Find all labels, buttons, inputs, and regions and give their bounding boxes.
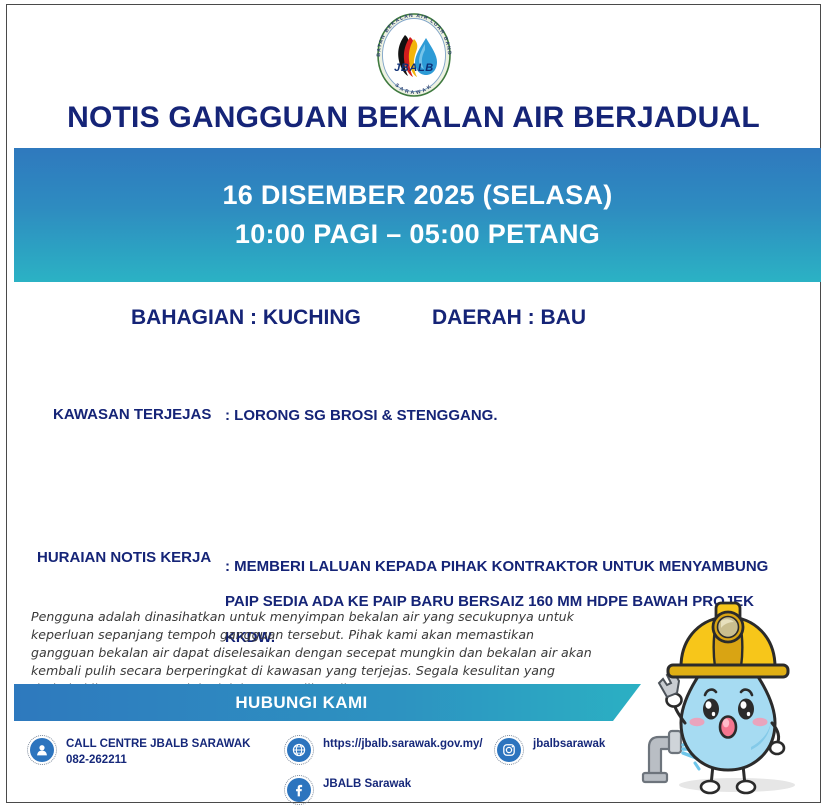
facebook-icon	[284, 775, 314, 805]
contact-website[interactable]: https://jbalb.sarawak.gov.my/	[284, 735, 483, 765]
daerah-label: DAERAH : BAU	[432, 306, 586, 330]
globe-icon	[284, 735, 314, 765]
poster-header: JABATAN BEKALAN AIR LUAR BANDAR SARAWAK …	[7, 5, 820, 143]
website-url: https://jbalb.sarawak.gov.my/	[323, 735, 483, 753]
kawasan-terjejas-label: KAWASAN TERJEJAS	[53, 406, 211, 423]
instagram-icon	[494, 735, 524, 765]
water-droplet-mascot-icon	[627, 597, 827, 805]
notice-poster: JABATAN BEKALAN AIR LUAR BANDAR SARAWAK …	[0, 0, 827, 807]
contact-facebook[interactable]: JBALB Sarawak	[284, 775, 411, 805]
notice-details: BAHAGIAN : KUCHING DAERAH : BAU KAWASAN …	[14, 282, 821, 372]
contact-instagram[interactable]: jbalbsarawak	[494, 735, 605, 765]
page-title: NOTIS GANGGUAN BEKALAN AIR BERJADUAL	[7, 101, 820, 135]
notice-date: 16 DISEMBER 2025 (SELASA)	[222, 176, 612, 215]
kawasan-terjejas-value: : LORONG SG BROSI & STENGGANG.	[225, 407, 498, 424]
affected-area-row: KAWASAN TERJEJAS : LORONG SG BROSI & STE…	[14, 336, 821, 372]
bahagian-label: BAHAGIAN : KUCHING	[131, 306, 361, 330]
user-icon	[27, 735, 57, 765]
call-centre-name: CALL CENTRE JBALB SARAWAK	[66, 738, 250, 750]
svg-text:JBALB: JBALB	[394, 62, 434, 74]
huraian-notis-kerja-label: HURAIAN NOTIS KERJA	[37, 549, 211, 566]
notice-time: 10:00 PAGI – 05:00 PETANG	[235, 215, 600, 254]
poster-frame: JABATAN BEKALAN AIR LUAR BANDAR SARAWAK …	[6, 4, 821, 803]
division-row: BAHAGIAN : KUCHING DAERAH : BAU	[14, 282, 821, 336]
call-centre-text: CALL CENTRE JBALB SARAWAK 082-262211	[66, 735, 250, 768]
huraian-line-1: : MEMBERI LALUAN KEPADA PIHAK KONTRAKTOR…	[225, 549, 785, 584]
contact-call-centre[interactable]: CALL CENTRE JBALB SARAWAK 082-262211	[27, 735, 250, 768]
facebook-page-name: JBALB Sarawak	[323, 775, 411, 793]
date-time-banner: 16 DISEMBER 2025 (SELASA) 10:00 PAGI – 0…	[14, 148, 821, 282]
call-centre-number: 082-262211	[66, 753, 250, 769]
jbalb-logo-icon: JABATAN BEKALAN AIR LUAR BANDAR SARAWAK …	[368, 13, 460, 97]
hubungi-kami-label: HUBUNGI KAMI	[14, 684, 589, 721]
instagram-handle: jbalbsarawak	[533, 735, 605, 753]
